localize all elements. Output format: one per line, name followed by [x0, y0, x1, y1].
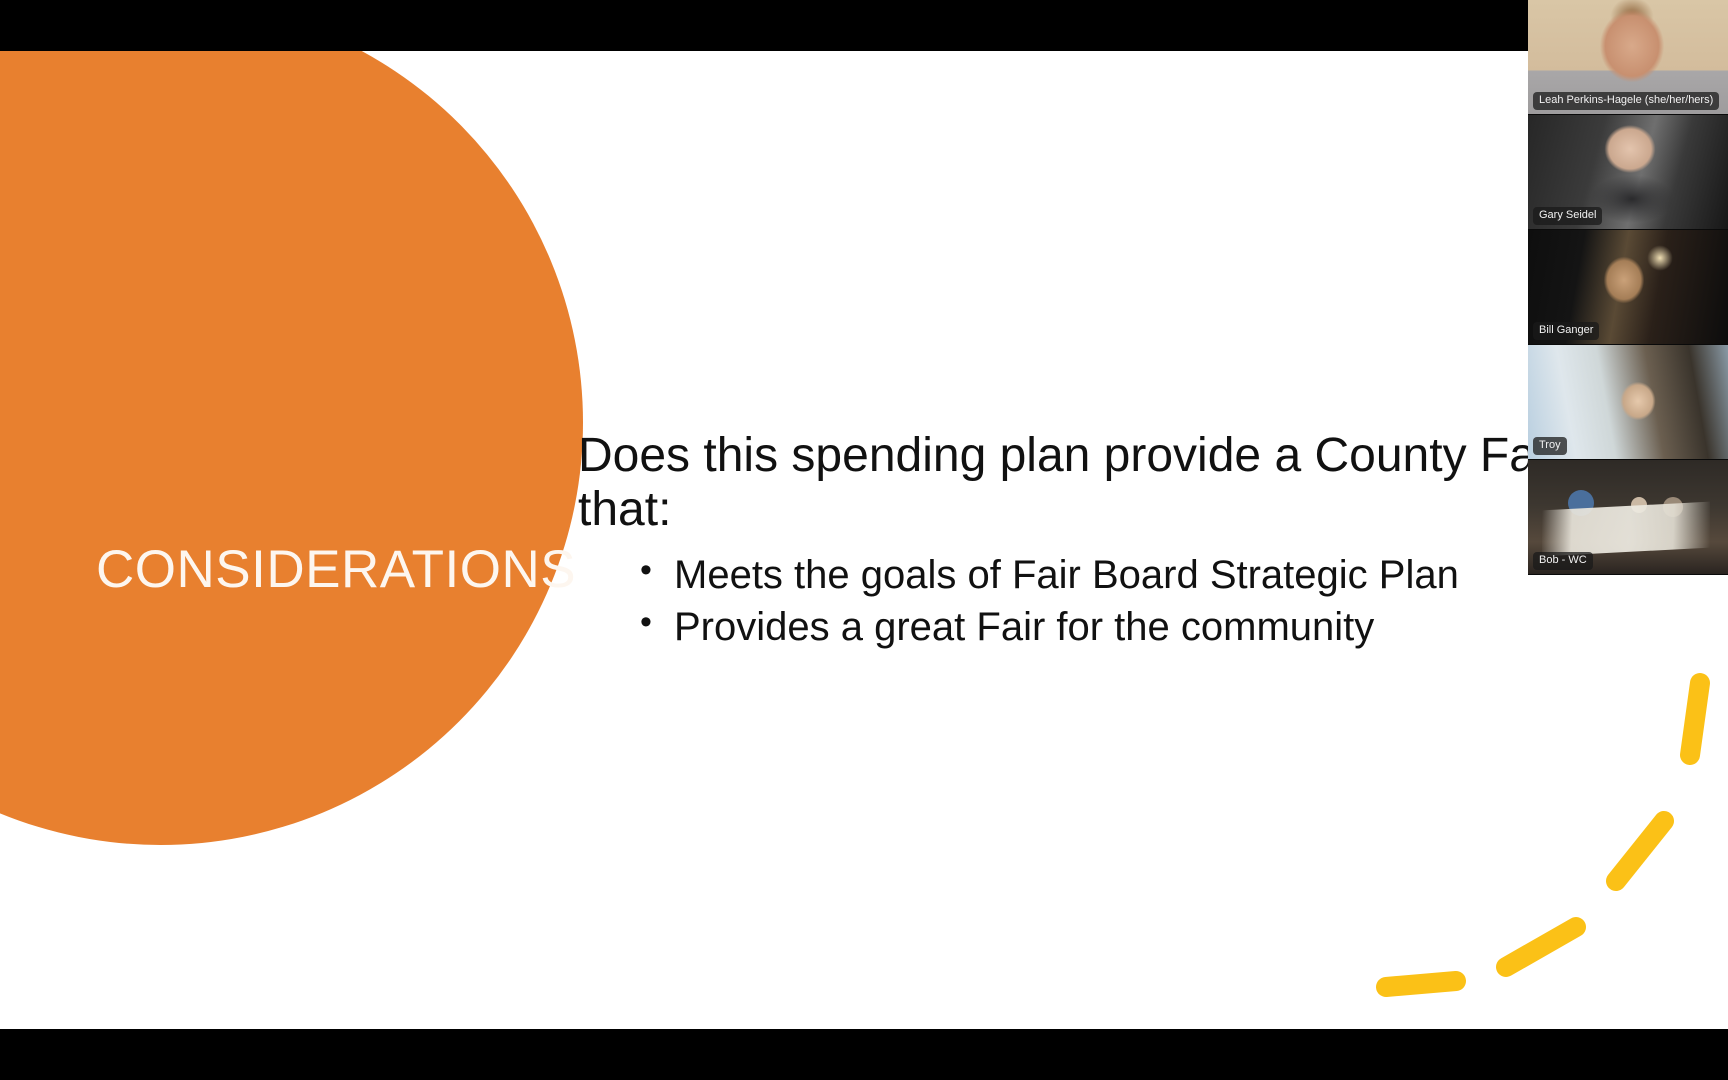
arc-dash-2: [1506, 927, 1576, 967]
slide-lead-line-1: Does this spending plan provide a County…: [578, 429, 1563, 482]
list-item: Provides a great Fair for the community: [640, 601, 1578, 653]
arc-dash-1: [1386, 981, 1456, 987]
participant-name-label: Gary Seidel: [1533, 207, 1602, 225]
participant-filmstrip[interactable]: Leah Perkins-Hagele (she/her/hers) Gary …: [1528, 0, 1728, 575]
orange-circle-decoration: [0, 51, 583, 845]
slide-body: Does this spending plan provide a County…: [578, 429, 1578, 653]
zoom-meeting-stage: CONSIDERATIONS Does this spending plan p…: [0, 0, 1728, 1080]
yellow-arc-decoration: [1328, 669, 1728, 1029]
participant-tile-bill[interactable]: Bill Ganger: [1528, 230, 1728, 345]
arc-dash-4: [1690, 683, 1700, 755]
shared-slide: CONSIDERATIONS Does this spending plan p…: [0, 51, 1728, 1029]
arc-dash-3: [1616, 821, 1664, 881]
participant-tile-troy[interactable]: Troy: [1528, 345, 1728, 460]
slide-lead-line-2: that:: [578, 483, 1578, 537]
participant-name-label: Bob - WC: [1533, 552, 1593, 570]
participant-tile-bob[interactable]: Bob - WC: [1528, 460, 1728, 575]
participant-name-label: Troy: [1533, 437, 1567, 455]
participant-name-label: Leah Perkins-Hagele (she/her/hers): [1533, 92, 1719, 110]
list-item: Meets the goals of Fair Board Strategic …: [640, 549, 1578, 601]
participant-name-label: Bill Ganger: [1533, 322, 1599, 340]
slide-lead-paragraph: Does this spending plan provide a County…: [578, 429, 1578, 537]
slide-bullet-list: Meets the goals of Fair Board Strategic …: [578, 549, 1578, 654]
participant-tile-gary[interactable]: Gary Seidel: [1528, 115, 1728, 230]
participant-tile-leah[interactable]: Leah Perkins-Hagele (she/her/hers): [1528, 0, 1728, 115]
page-title: CONSIDERATIONS: [96, 541, 516, 599]
